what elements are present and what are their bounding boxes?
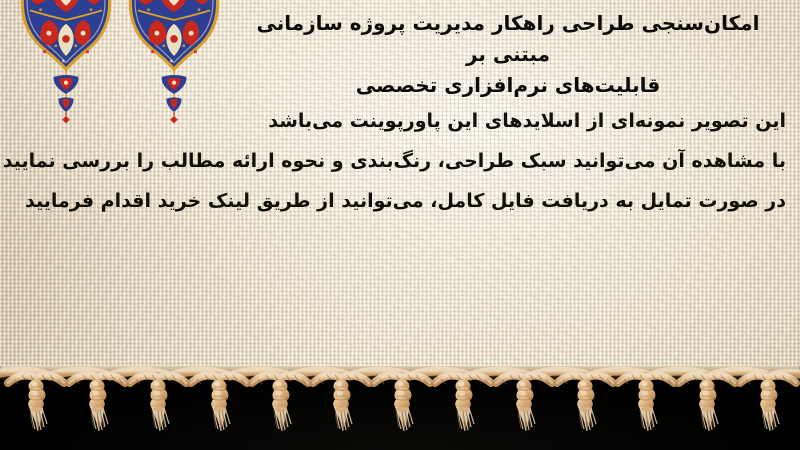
tassel-item bbox=[8, 375, 64, 431]
tassel-item bbox=[191, 375, 247, 431]
presentation-slide: امکان‌سنجی طراحی راهکار مدیریت پروژه ساز… bbox=[0, 0, 800, 450]
tassel-item bbox=[740, 375, 796, 431]
page-title: امکان‌سنجی طراحی راهکار مدیریت پروژه ساز… bbox=[228, 8, 788, 101]
tassel-item bbox=[69, 375, 125, 431]
tassel-group bbox=[0, 366, 800, 450]
tassel-item bbox=[557, 375, 613, 431]
tassel-item bbox=[313, 375, 369, 431]
tassel-item bbox=[252, 375, 308, 431]
body-text-block: این تصویر نمونه‌ای از اسلایدهای این پاور… bbox=[14, 112, 786, 232]
tassel-item bbox=[374, 375, 430, 431]
tassel-item bbox=[435, 375, 491, 431]
tassel-item bbox=[130, 375, 186, 431]
tassel-item bbox=[618, 375, 674, 431]
tassel-item bbox=[496, 375, 552, 431]
carpet-fringe-band bbox=[0, 366, 800, 450]
body-line-3: در صورت تمایل به دریافت فایل کامل، می‌تو… bbox=[14, 192, 786, 211]
body-line-2: با مشاهده آن می‌توانید سبک طراحی، رنگ‌بن… bbox=[14, 152, 786, 171]
tassel-item bbox=[679, 375, 735, 431]
title-line-2: قابلیت‌های نرم‌افزاری تخصصی bbox=[228, 70, 788, 101]
body-line-1: این تصویر نمونه‌ای از اسلایدهای این پاور… bbox=[14, 112, 786, 131]
title-line-1: امکان‌سنجی طراحی راهکار مدیریت پروژه ساز… bbox=[228, 8, 788, 70]
